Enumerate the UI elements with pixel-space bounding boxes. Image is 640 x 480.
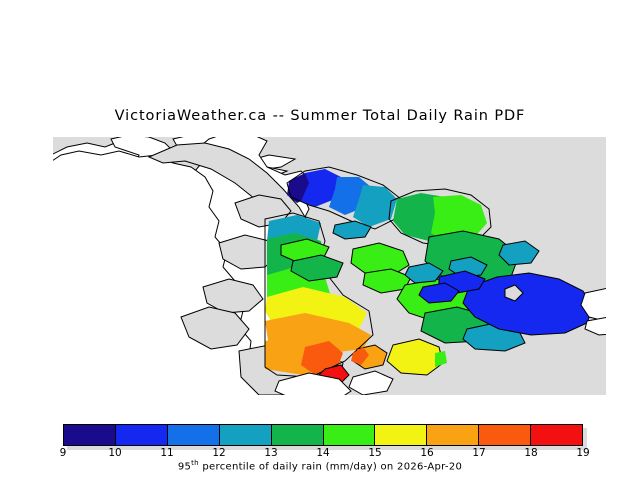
colorbar-tick-13: 13 [264, 447, 277, 459]
colorbar-segment-13-14[interactable] [272, 425, 324, 445]
colorbar-segment-12-13[interactable] [220, 425, 272, 445]
land-south-white-2 [349, 371, 393, 395]
colorbar-segment-15-16[interactable] [375, 425, 427, 445]
colorbar-tick-12: 12 [212, 447, 225, 459]
colorbar-segments[interactable] [63, 424, 583, 446]
map-canvas[interactable] [53, 137, 606, 395]
colorbar-tick-16: 16 [420, 447, 433, 459]
colorbar-segment-11-12[interactable] [168, 425, 220, 445]
colorbar-tick-19: 19 [576, 447, 589, 459]
colorbar-caption: 95th percentile of daily rain (mm/day) o… [0, 459, 640, 472]
region-south-yellow-island [387, 339, 443, 375]
weather-map-page: VictoriaWeather.ca -- Summer Total Daily… [0, 0, 640, 480]
colorbar-tick-11: 11 [160, 447, 173, 459]
colorbar-tick-15: 15 [368, 447, 381, 459]
page-title: VictoriaWeather.ca -- Summer Total Daily… [0, 108, 640, 124]
region-south-yellow-edge [435, 351, 447, 367]
colored-field-group [265, 167, 606, 395]
colorbar-tick-18: 18 [524, 447, 537, 459]
caption-superscript: th [191, 459, 199, 467]
colorbar-tick-9: 9 [60, 447, 67, 459]
colorbar-segment-14-15[interactable] [324, 425, 376, 445]
colorbar-tick-17: 17 [472, 447, 485, 459]
colorbar-segment-9-10[interactable] [64, 425, 116, 445]
colorbar-segment-16-17[interactable] [427, 425, 479, 445]
colorbar-tick-10: 10 [108, 447, 121, 459]
colorbar-segment-18-19[interactable] [531, 425, 582, 445]
colorbar-segment-17-18[interactable] [479, 425, 531, 445]
colorbar[interactable] [63, 424, 583, 446]
map-panel[interactable] [53, 137, 606, 395]
region-ne-cyan-sliver [499, 241, 539, 265]
colorbar-segment-10-11[interactable] [116, 425, 168, 445]
colorbar-tick-14: 14 [316, 447, 329, 459]
